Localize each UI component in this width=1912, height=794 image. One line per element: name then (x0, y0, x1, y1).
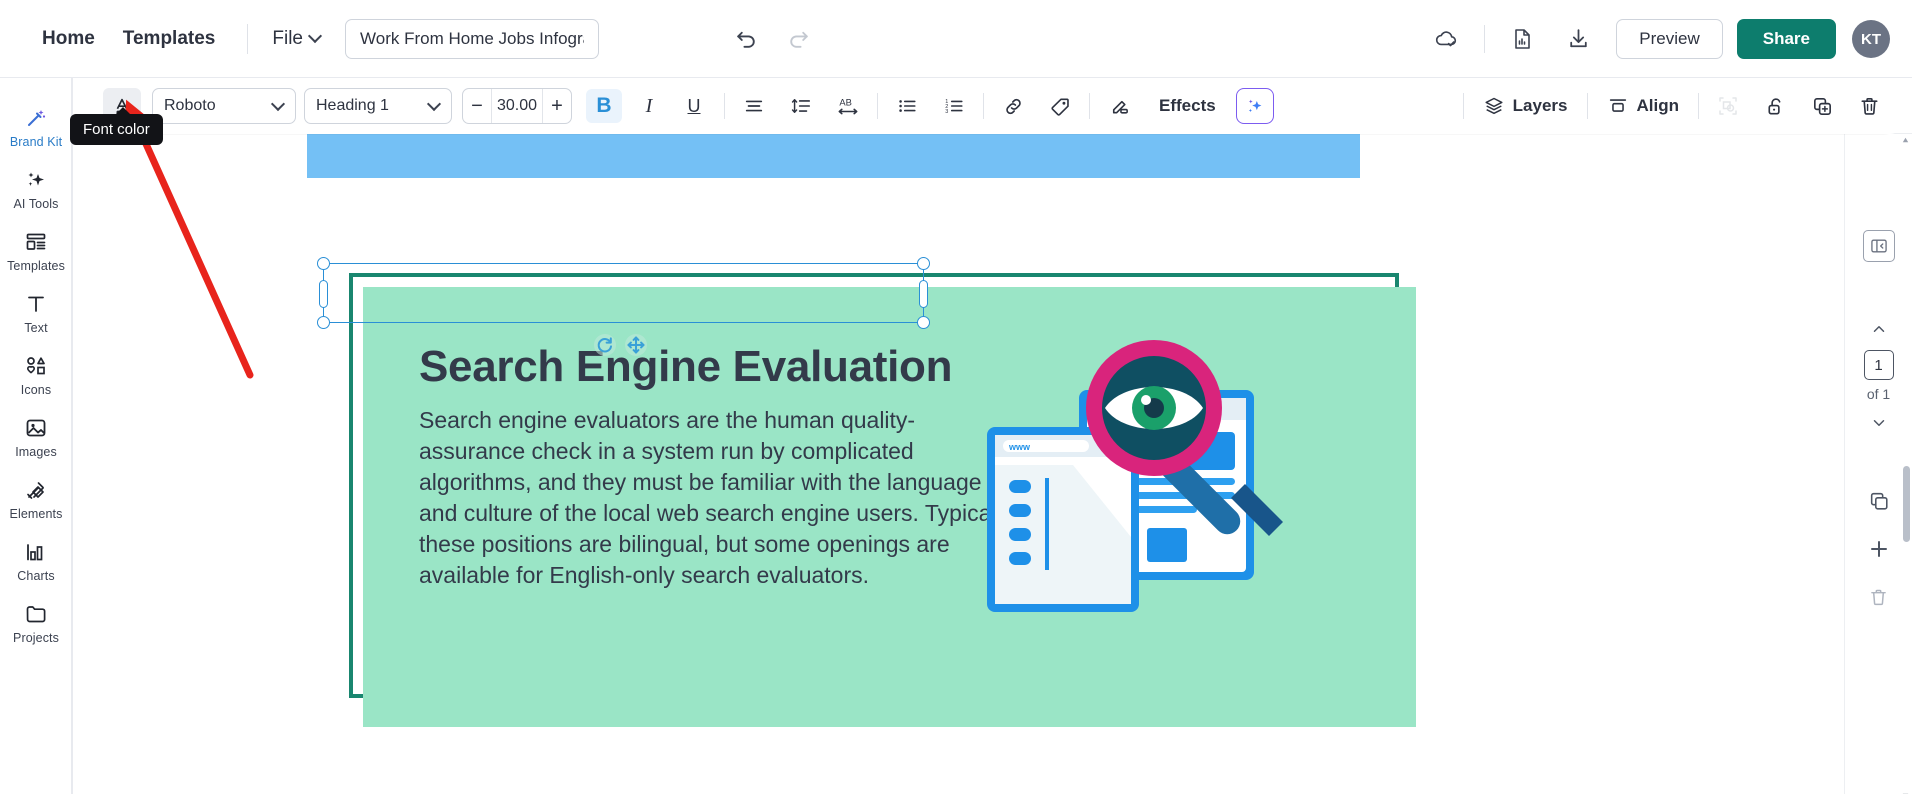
toolbar-divider-5 (1463, 93, 1464, 119)
italic-label: I (646, 95, 653, 118)
resize-handle-bottom-right[interactable] (917, 316, 930, 329)
font-size-stepper: − 30.00 + (462, 88, 572, 124)
text-selection-frame[interactable] (323, 263, 924, 323)
highlighter-icon (1108, 95, 1131, 118)
page-navigation: 1 of 1 (1862, 312, 1896, 440)
search-engine-magnifier-illustration[interactable]: www www (983, 332, 1313, 662)
resize-handle-bottom-left[interactable] (317, 316, 330, 329)
italic-button[interactable]: I (631, 89, 667, 123)
font-size-decrease[interactable]: − (463, 89, 491, 123)
rotate-handle-icon[interactable] (592, 332, 618, 358)
sidebar-label-images: Images (15, 445, 57, 459)
svg-text:3: 3 (945, 109, 948, 115)
sidebar-item-text[interactable]: Text (0, 282, 72, 344)
bold-button[interactable]: B (586, 89, 622, 123)
font-family-value: Roboto (164, 97, 216, 115)
page-up-button[interactable] (1862, 312, 1896, 346)
sidebar-item-elements[interactable]: Elements (0, 468, 72, 530)
layers-button[interactable]: Layers (1473, 89, 1578, 123)
right-panel: 1 of 1 (1844, 134, 1912, 794)
chevron-down-icon (310, 31, 321, 42)
canvas-area[interactable]: Search Engine Evaluation Search engine e… (72, 134, 1512, 794)
history-controls (731, 0, 813, 78)
line-height-icon (790, 95, 812, 117)
toolbar-divider-7 (1698, 93, 1699, 119)
link-icon (1002, 95, 1025, 118)
svg-text:AB: AB (839, 97, 852, 108)
text-style-select[interactable]: Heading 1 (304, 88, 452, 124)
scrollbar-down-arrow[interactable] (1901, 787, 1910, 794)
duplicate-page-icon (1868, 490, 1890, 512)
delete-button[interactable] (1852, 89, 1886, 123)
tag-icon (1049, 95, 1072, 118)
sidebar-label-icons: Icons (21, 383, 51, 397)
letter-spacing-button[interactable]: AB (831, 89, 865, 123)
toolbar-divider (724, 93, 725, 119)
document-chart-icon[interactable] (1502, 19, 1542, 59)
shapes-icon (23, 353, 49, 379)
line-height-button[interactable] (784, 89, 818, 123)
lock-button[interactable] (1758, 89, 1792, 123)
sidebar-label-brand-kit: Brand Kit (10, 135, 62, 149)
font-color-tooltip: Font color (70, 114, 163, 145)
layers-icon (1483, 95, 1505, 117)
letter-spacing-icon: AB (836, 94, 860, 118)
toolbar-right-group: Layers Align (1454, 89, 1890, 123)
page-count-label: of 1 (1867, 386, 1890, 402)
sidebar-label-charts: Charts (17, 569, 54, 583)
toolbar-divider-3 (983, 93, 984, 119)
underline-label: U (688, 96, 701, 117)
sidebar-item-ai-tools[interactable]: AI Tools (0, 158, 72, 220)
redo-button[interactable] (783, 24, 813, 54)
document-title-input[interactable] (345, 19, 599, 59)
text-t-icon (24, 291, 48, 317)
scrollbar-up-arrow[interactable] (1901, 132, 1910, 141)
current-page-number[interactable]: 1 (1864, 350, 1894, 380)
trash-icon (1858, 95, 1881, 118)
card-title[interactable]: Search Engine Evaluation (419, 342, 952, 392)
numbered-list-button[interactable]: 1 2 3 (937, 89, 971, 123)
sidebar-label-elements: Elements (10, 507, 63, 521)
resize-handle-top-right[interactable] (917, 257, 930, 270)
add-page-button[interactable] (1862, 532, 1896, 566)
elements-icon (24, 477, 48, 503)
ai-assist-button[interactable] (1236, 88, 1274, 124)
page-down-button[interactable] (1862, 406, 1896, 440)
resize-handle-middle-right[interactable] (919, 280, 928, 308)
sidebar-item-projects[interactable]: Projects (0, 592, 72, 654)
chevron-down-icon (429, 99, 440, 110)
file-menu-label: File (272, 28, 303, 50)
font-size-increase[interactable]: + (543, 89, 571, 123)
resize-handle-middle-left[interactable] (319, 280, 328, 308)
sidebar-item-images[interactable]: Images (0, 406, 72, 468)
font-family-select[interactable]: Roboto (152, 88, 296, 124)
sidebar-item-templates[interactable]: Templates (0, 220, 72, 282)
undo-button[interactable] (731, 24, 761, 54)
duplicate-icon (1811, 95, 1834, 118)
scrollbar-thumb[interactable] (1903, 466, 1910, 542)
resize-handle-top-left[interactable] (317, 257, 330, 270)
nav-templates[interactable]: Templates (109, 20, 230, 58)
magic-wand-icon (24, 105, 48, 131)
folder-icon (24, 601, 48, 627)
sidebar-divider (72, 78, 73, 794)
align-button[interactable]: Align (1597, 89, 1690, 123)
layout-grid-icon (24, 229, 48, 255)
trash-page-icon (1868, 587, 1889, 608)
sidebar-item-brand-kit[interactable]: Brand Kit (0, 96, 72, 158)
highlight-button[interactable] (1102, 89, 1136, 123)
top-bar: Home Templates File (0, 0, 1912, 78)
green-card-fill[interactable]: Search Engine Evaluation Search engine e… (363, 287, 1416, 727)
editor-app: Home Templates File (0, 0, 1912, 794)
plus-icon (1867, 537, 1891, 561)
delete-page-button[interactable] (1862, 580, 1896, 614)
sidebar-label-ai-tools: AI Tools (13, 197, 58, 211)
unlock-icon (1764, 95, 1787, 118)
collapse-panel-icon[interactable] (1863, 230, 1895, 262)
preview-button[interactable]: Preview (1616, 19, 1722, 59)
sidebar-label-templates: Templates (7, 259, 65, 273)
align-label: Align (1637, 96, 1680, 116)
canvas-scrollbar[interactable] (1903, 134, 1910, 794)
text-align-button[interactable] (737, 89, 771, 123)
duplicate-button[interactable] (1805, 89, 1839, 123)
ai-sparkle-icon (1244, 95, 1266, 117)
mask-button (1711, 89, 1745, 123)
numbered-list-icon: 1 2 3 (943, 95, 965, 117)
sparkles-icon (24, 167, 48, 193)
svg-text:www: www (1008, 442, 1031, 452)
top-bar-right: Preview Share KT (1419, 0, 1890, 78)
topbar-divider (1484, 25, 1485, 53)
sidebar-label-text: Text (24, 321, 47, 335)
link-button[interactable] (996, 89, 1030, 123)
nav-home[interactable]: Home (28, 20, 109, 58)
effects-button[interactable]: Effects (1149, 89, 1226, 123)
bold-label: B (596, 94, 611, 118)
avatar[interactable]: KT (1852, 20, 1890, 58)
top-bar-left: Home Templates File (0, 19, 599, 59)
chevron-up-icon (1870, 320, 1888, 338)
toolbar-divider-4 (1089, 93, 1090, 119)
duplicate-page-button[interactable] (1862, 484, 1896, 518)
layers-label: Layers (1513, 96, 1568, 116)
text-style-value: Heading 1 (316, 97, 389, 115)
toolbar-divider-6 (1587, 93, 1588, 119)
sidebar-item-icons[interactable]: Icons (0, 344, 72, 406)
image-icon (24, 415, 48, 441)
bullet-list-icon (896, 95, 918, 117)
tag-button[interactable] (1043, 89, 1077, 123)
toolbar-divider-2 (877, 93, 878, 119)
chevron-down-icon (1870, 414, 1888, 432)
nav-divider (247, 24, 248, 54)
cloud-check-icon[interactable] (1427, 19, 1467, 59)
download-icon[interactable] (1558, 19, 1598, 59)
sidebar-item-charts[interactable]: Charts (0, 530, 72, 592)
text-align-icon (743, 95, 765, 117)
share-button[interactable]: Share (1737, 19, 1836, 59)
sidebar-label-projects: Projects (13, 631, 59, 645)
blue-section-band[interactable] (307, 134, 1360, 178)
mask-icon (1716, 94, 1740, 118)
page-actions (1862, 484, 1896, 614)
font-size-value[interactable]: 30.00 (491, 89, 543, 123)
chevron-down-icon (273, 99, 284, 110)
move-handle-icon[interactable] (623, 332, 649, 358)
underline-button[interactable]: U (676, 89, 712, 123)
card-body-text[interactable]: Search engine evaluators are the human q… (419, 405, 1019, 591)
design-page[interactable]: Search Engine Evaluation Search engine e… (293, 134, 1346, 794)
file-menu-button[interactable]: File (266, 20, 327, 58)
bar-chart-icon (24, 539, 48, 565)
text-toolbar: Roboto Heading 1 − 30.00 + B I U (88, 78, 1902, 134)
left-sidebar: Brand Kit AI Tools Templates (0, 78, 72, 794)
align-icon (1607, 95, 1629, 117)
bullet-list-button[interactable] (890, 89, 924, 123)
